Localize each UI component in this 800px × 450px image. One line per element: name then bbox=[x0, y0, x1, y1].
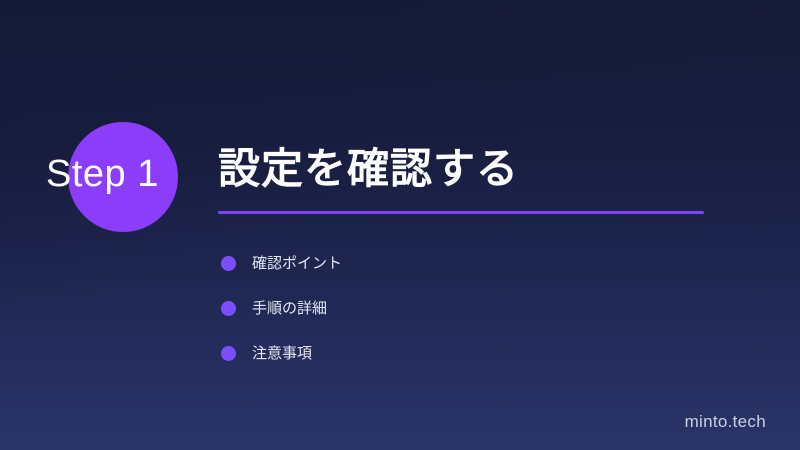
bullet-dot-icon bbox=[221, 346, 236, 361]
bullet-label: 注意事項 bbox=[252, 344, 312, 364]
footer-brand: minto.tech bbox=[685, 412, 766, 432]
list-item: 注意事項 bbox=[221, 331, 342, 376]
title-block: 設定を確認する bbox=[218, 143, 738, 214]
bullet-dot-icon bbox=[221, 301, 236, 316]
list-item: 手順の詳細 bbox=[221, 286, 342, 331]
step-badge-label: Step 1 bbox=[46, 152, 159, 196]
presentation-slide: Step 1 設定を確認する 確認ポイント 手順の詳細 注意事項 minto.t… bbox=[0, 0, 800, 450]
bullet-label: 確認ポイント bbox=[252, 254, 342, 274]
slide-title: 設定を確認する bbox=[218, 143, 738, 195]
title-divider bbox=[218, 211, 704, 214]
bullet-dot-icon bbox=[221, 256, 236, 271]
bullet-label: 手順の詳細 bbox=[252, 299, 327, 319]
bullet-list: 確認ポイント 手順の詳細 注意事項 bbox=[221, 241, 342, 376]
list-item: 確認ポイント bbox=[221, 241, 342, 286]
